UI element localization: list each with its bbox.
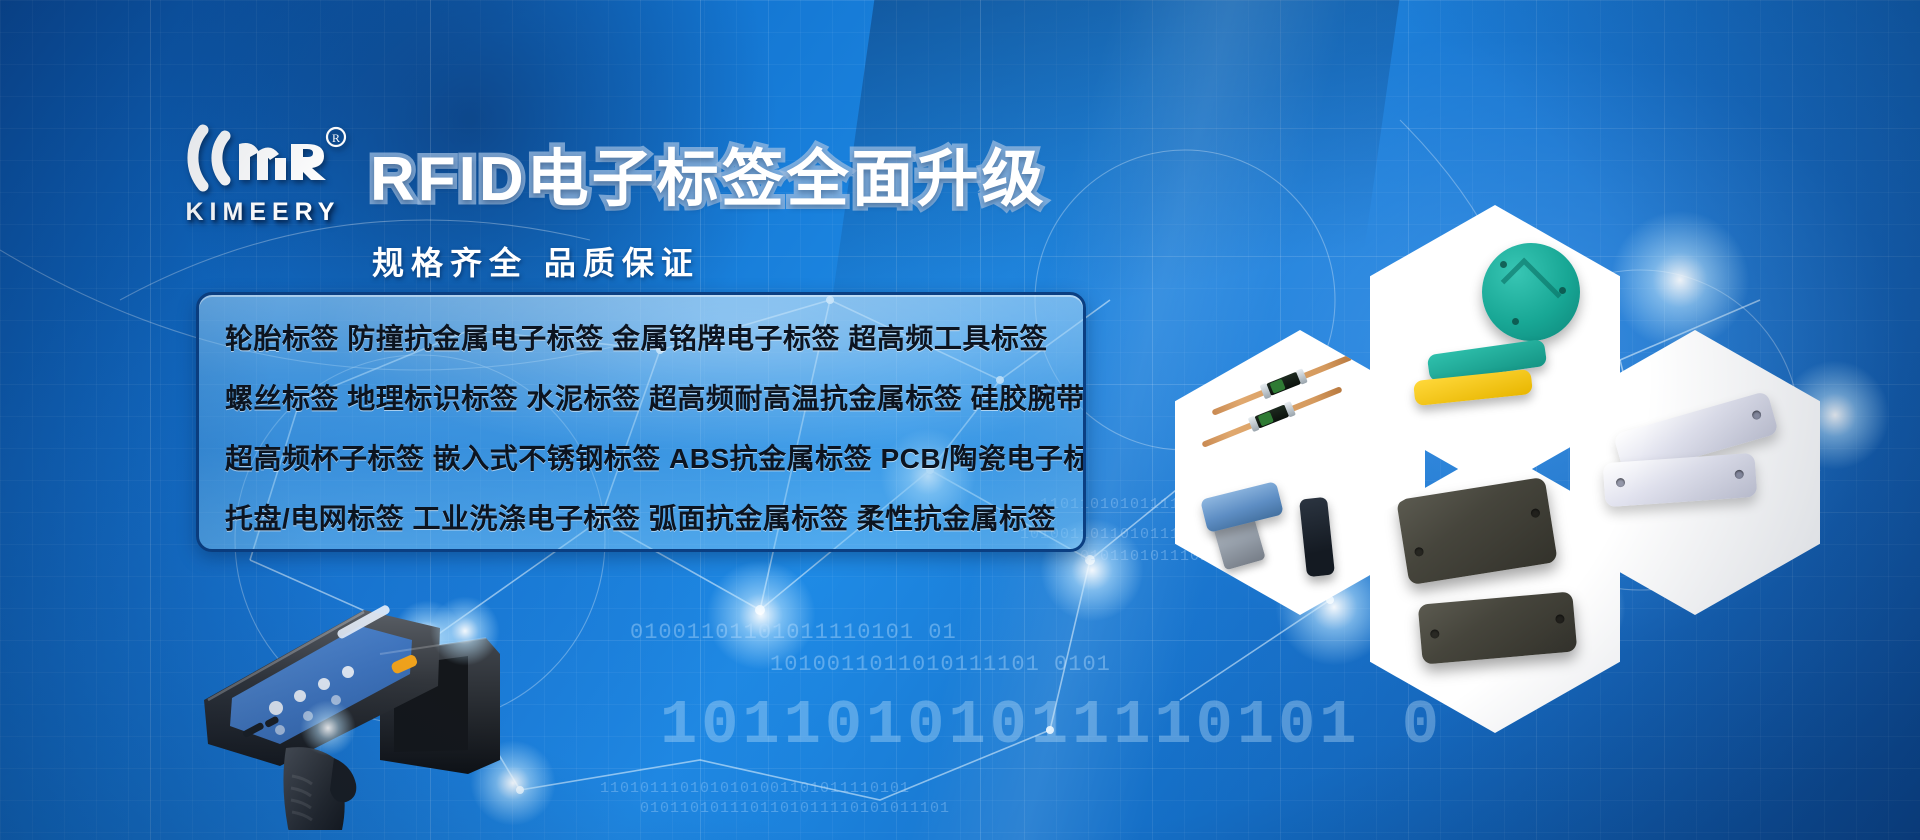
tag-list-row: 托盘/电网标签 工业洗涤电子标签 弧面抗金属标签 柔性抗金属标签: [199, 489, 1083, 549]
white-rect-tag: [1603, 453, 1758, 507]
svg-text:R: R: [332, 131, 340, 145]
rfid-product-banner: 10110101011110101 0 1010011011010111101 …: [0, 0, 1920, 840]
page-title: RFID电子标签全面升级: [370, 128, 1047, 218]
node-glow: [1610, 210, 1750, 350]
background-vertical-line: [150, 0, 151, 840]
handheld-uhf-rfid-reader[interactable]: [168, 580, 548, 830]
binary-text-large: 10110101011110101 0: [660, 690, 1443, 761]
binary-text-medium: 1010011011010111101 0101: [770, 652, 1111, 677]
product-tag-list-box: 轮胎标签 防撞抗金属电子标签 金属铭牌电子标签 超高频工具标签 螺丝标签 地理标…: [196, 292, 1086, 552]
kimeery-signal-mark: R: [173, 122, 353, 194]
page-title-text: RFID电子标签全面升级: [370, 145, 1047, 214]
black-bar-tag: [1299, 497, 1335, 577]
node-glow: [706, 560, 816, 670]
binary-text-medium: 01001101101011110101 01: [630, 620, 957, 645]
binary-text-small: 0101101011101101011110101011101: [640, 800, 950, 817]
teal-round-disc-tag: [1482, 243, 1580, 341]
dark-rect-plate-tag: [1396, 477, 1558, 585]
tag-list-row: 轮胎标签 防撞抗金属电子标签 金属铭牌电子标签 超高频工具标签: [199, 309, 1083, 369]
tag-list-row: 螺丝标签 地理标识标签 水泥标签 超高频耐高温抗金属标签 硅胶腕带: [199, 369, 1083, 429]
dark-flat-plate-tag: [1418, 591, 1578, 664]
kimeery-logo[interactable]: R KIMEERY: [173, 122, 353, 227]
tag-list-row: 超高频杯子标签 嵌入式不锈钢标签 ABS抗金属标签 PCB/陶瓷电子标签: [199, 429, 1083, 489]
page-subtitle: 规格齐全 品质保证: [372, 238, 700, 284]
binary-text-small: 1101011101010101001101011110101: [600, 780, 910, 797]
brand-name: KIMEERY: [173, 198, 353, 227]
